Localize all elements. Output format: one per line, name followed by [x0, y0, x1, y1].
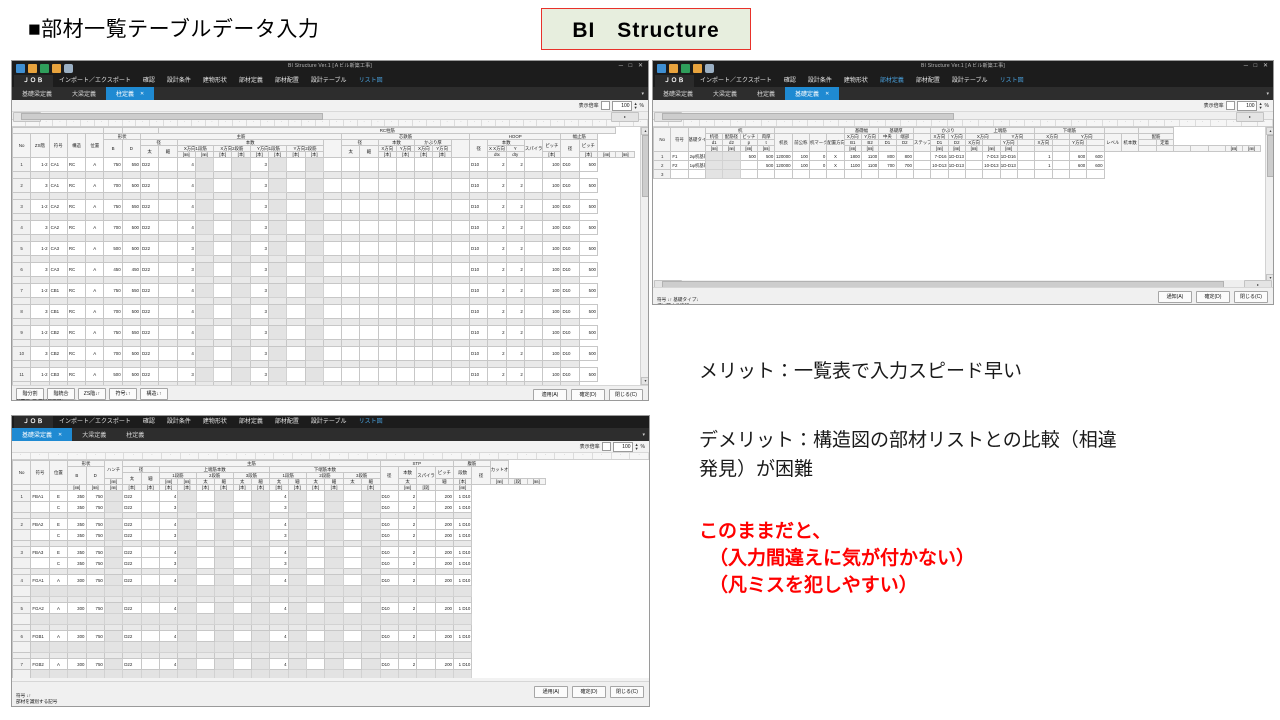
column-letter[interactable]: · — [124, 453, 143, 459]
column-letter[interactable]: · — [344, 120, 358, 126]
table-cell[interactable]: 1 D10 — [454, 530, 472, 541]
table-cell[interactable] — [31, 172, 49, 179]
column-letter[interactable]: · — [274, 453, 293, 459]
zoom-icon[interactable] — [601, 101, 610, 110]
table-cell[interactable] — [305, 361, 323, 368]
column-letter[interactable]: · — [555, 453, 574, 459]
table-cell[interactable] — [1017, 161, 1034, 170]
table-cell[interactable]: 4 — [160, 631, 178, 642]
table-cell[interactable] — [287, 319, 305, 326]
table-cell[interactable]: 7-D13 — [983, 152, 1000, 161]
table-cell[interactable] — [141, 586, 159, 597]
table-cell[interactable] — [287, 172, 305, 179]
table-cell[interactable] — [13, 193, 31, 200]
table-cell[interactable] — [13, 298, 31, 305]
table-cell[interactable] — [178, 659, 196, 670]
table-cell[interactable] — [342, 193, 360, 200]
table-cell[interactable] — [415, 340, 433, 347]
table-cell[interactable]: D10 — [561, 284, 579, 298]
monitor-icon[interactable] — [705, 64, 714, 73]
column-letter[interactable]: · — [413, 120, 427, 126]
table-cell[interactable] — [305, 235, 323, 242]
table-cell[interactable] — [305, 305, 323, 319]
table-cell[interactable] — [49, 642, 67, 653]
table-cell[interactable] — [196, 631, 214, 642]
table-cell[interactable]: 2 — [13, 179, 31, 193]
table-cell[interactable] — [360, 256, 378, 263]
table-cell[interactable] — [360, 298, 378, 305]
table-cell[interactable] — [86, 256, 104, 263]
table-cell[interactable] — [141, 670, 159, 678]
table-cell[interactable] — [215, 586, 233, 597]
table-cell[interactable]: 750 — [104, 200, 122, 214]
tab-基礎梁定義[interactable]: 基礎梁定義 — [653, 87, 703, 100]
table-cell[interactable] — [178, 575, 196, 586]
table-cell[interactable]: 4 — [160, 547, 178, 558]
table-cell[interactable] — [362, 519, 380, 530]
column-letter[interactable]: · — [330, 120, 344, 126]
table-cell[interactable] — [160, 642, 178, 653]
table-cell[interactable]: D22 — [140, 368, 158, 382]
table-row[interactable]: 6FGB1A300750D2244D1022001 D10 — [13, 631, 546, 642]
table-cell[interactable]: 1-2 — [31, 158, 49, 172]
table-cell[interactable] — [250, 172, 268, 179]
table-cell[interactable]: D10 — [380, 631, 398, 642]
table-cell[interactable] — [287, 368, 305, 382]
table-cell[interactable] — [307, 547, 325, 558]
beam-grid[interactable]: No符号位置形状ハンチ主筋STP腹筋カットオフ筋長さBD径上端筋本数下端筋本数径… — [12, 460, 649, 678]
table-cell[interactable] — [68, 670, 86, 678]
table-cell[interactable]: D10 — [561, 368, 579, 382]
column-letter[interactable]: · — [700, 120, 716, 126]
table-cell[interactable] — [378, 326, 396, 340]
button-符号↓↑[interactable]: 符号↓↑ — [109, 388, 137, 400]
table-cell[interactable] — [31, 558, 49, 569]
table-cell[interactable] — [195, 368, 213, 382]
table-cell[interactable] — [417, 575, 435, 586]
table-cell[interactable] — [433, 326, 451, 340]
table-cell[interactable] — [451, 305, 469, 319]
table-cell[interactable]: 1100 — [844, 161, 861, 170]
table-cell[interactable] — [415, 172, 433, 179]
table-cell[interactable] — [268, 221, 286, 235]
table-cell[interactable] — [104, 319, 122, 326]
table-cell[interactable] — [232, 193, 250, 200]
table-cell[interactable] — [250, 340, 268, 347]
table-cell[interactable]: F1 — [671, 152, 688, 161]
table-cell[interactable] — [250, 361, 268, 368]
table-cell[interactable] — [49, 614, 67, 625]
table-cell[interactable] — [360, 214, 378, 221]
table-cell[interactable] — [214, 235, 232, 242]
table-cell[interactable]: 3 — [270, 558, 288, 569]
scroll-up-icon[interactable]: ▴ — [1266, 127, 1273, 135]
table-cell[interactable] — [177, 319, 195, 326]
column-letter[interactable]: · — [49, 453, 68, 459]
table-cell[interactable] — [251, 586, 269, 597]
table-cell[interactable] — [232, 326, 250, 340]
table-cell[interactable]: 4 — [270, 603, 288, 614]
table-cell[interactable]: 500 — [579, 221, 597, 235]
table-cell[interactable] — [49, 670, 67, 678]
menu-item-リスト図[interactable]: リスト図 — [353, 75, 389, 87]
table-cell[interactable]: 700 — [104, 179, 122, 193]
table-cell[interactable] — [305, 242, 323, 256]
table-cell[interactable] — [49, 298, 67, 305]
table-cell[interactable] — [433, 263, 451, 277]
table-cell[interactable] — [323, 368, 341, 382]
table-cell[interactable] — [232, 368, 250, 382]
table-cell[interactable]: 2 — [506, 263, 524, 277]
table-cell[interactable] — [524, 284, 542, 298]
table-cell[interactable] — [159, 347, 177, 361]
column-letter[interactable]: · — [1025, 120, 1041, 126]
column-letter[interactable]: · — [1118, 120, 1134, 126]
table-cell[interactable] — [159, 242, 177, 256]
table-cell[interactable] — [417, 502, 435, 513]
table-cell[interactable] — [159, 319, 177, 326]
table-cell[interactable] — [343, 659, 361, 670]
table-cell[interactable]: X — [827, 161, 844, 170]
table-cell[interactable]: 0 — [809, 152, 826, 161]
table-cell[interactable] — [288, 547, 306, 558]
table-cell[interactable]: 3 — [160, 558, 178, 569]
table-cell[interactable] — [288, 530, 306, 541]
table-row-spacer[interactable] — [13, 193, 635, 200]
table-cell[interactable] — [86, 361, 104, 368]
table-cell[interactable] — [451, 361, 469, 368]
table-cell[interactable] — [159, 284, 177, 298]
table-cell[interactable] — [360, 277, 378, 284]
table-cell[interactable] — [251, 519, 269, 530]
table-cell[interactable] — [268, 319, 286, 326]
column-letter[interactable]: · — [441, 120, 455, 126]
table-cell[interactable] — [913, 152, 930, 161]
column-letter[interactable]: · — [499, 453, 518, 459]
table-cell[interactable]: 750 — [86, 519, 104, 530]
table-cell[interactable] — [378, 347, 396, 361]
table-cell[interactable] — [195, 158, 213, 172]
table-cell[interactable] — [141, 547, 159, 558]
table-cell[interactable]: 2 — [506, 242, 524, 256]
table-cell[interactable]: 3 — [250, 242, 268, 256]
table-cell[interactable]: D10 — [561, 347, 579, 361]
table-cell[interactable] — [268, 172, 286, 179]
table-cell[interactable] — [983, 170, 1000, 179]
table-cell[interactable] — [287, 256, 305, 263]
table-cell[interactable] — [141, 603, 159, 614]
table-cell[interactable] — [67, 256, 85, 263]
table-cell[interactable] — [195, 235, 213, 242]
table-cell[interactable] — [396, 319, 414, 326]
table-cell[interactable] — [305, 277, 323, 284]
table-cell[interactable] — [342, 298, 360, 305]
table-cell[interactable]: 3 — [13, 547, 31, 558]
save-icon[interactable] — [16, 64, 25, 73]
table-cell[interactable] — [360, 347, 378, 361]
table-cell[interactable]: 550 — [122, 158, 140, 172]
table-cell[interactable] — [415, 347, 433, 361]
table-cell[interactable]: RC — [67, 305, 85, 319]
table-cell[interactable]: 1 D10 — [454, 558, 472, 569]
table-cell[interactable] — [268, 158, 286, 172]
table-cell[interactable]: D22 — [140, 263, 158, 277]
table-cell[interactable] — [488, 361, 506, 368]
table-cell[interactable] — [104, 256, 122, 263]
table-cell[interactable]: 800 — [879, 152, 896, 161]
table-cell[interactable] — [215, 659, 233, 670]
table-cell[interactable]: 750 — [86, 502, 104, 513]
table-cell[interactable] — [178, 547, 196, 558]
column-letter[interactable]: · — [1180, 120, 1196, 126]
table-cell[interactable] — [470, 361, 488, 368]
table-cell[interactable] — [360, 242, 378, 256]
table-cell[interactable] — [323, 340, 341, 347]
table-cell[interactable] — [31, 256, 49, 263]
column-letter[interactable]: · — [178, 120, 192, 126]
table-cell[interactable]: 1 — [13, 158, 31, 172]
table-cell[interactable] — [270, 642, 288, 653]
table-cell[interactable] — [140, 214, 158, 221]
table-cell[interactable] — [215, 502, 233, 513]
table-cell[interactable]: D22 — [123, 558, 141, 569]
table-cell[interactable] — [177, 361, 195, 368]
table-cell[interactable] — [195, 305, 213, 319]
table-cell[interactable] — [965, 152, 982, 161]
table-cell[interactable]: 2 — [488, 158, 506, 172]
table-cell[interactable] — [323, 235, 341, 242]
table-cell[interactable] — [195, 172, 213, 179]
zoom-toolbar[interactable]: 表示倍率 100 ▲▼ % — [12, 100, 648, 112]
table-cell[interactable] — [122, 319, 140, 326]
table-cell[interactable] — [435, 642, 453, 653]
table-cell[interactable] — [561, 277, 579, 284]
table-cell[interactable] — [451, 277, 469, 284]
table-cell[interactable] — [792, 170, 809, 179]
table-cell[interactable]: C — [49, 530, 67, 541]
window-column-definition[interactable]: BI Structure Ver.1 [Ａビル新築工事] ─ □ ✕ ＪＯＢイン… — [11, 60, 649, 401]
table-cell[interactable] — [378, 158, 396, 172]
save-icon[interactable] — [657, 64, 666, 73]
table-cell[interactable] — [325, 491, 343, 502]
table-cell[interactable] — [195, 256, 213, 263]
table-cell[interactable]: 500 — [122, 368, 140, 382]
table-cell[interactable] — [451, 319, 469, 326]
column-letter[interactable]: · — [612, 453, 631, 459]
table-cell[interactable] — [287, 158, 305, 172]
table-cell[interactable] — [233, 659, 251, 670]
table-cell[interactable] — [196, 642, 214, 653]
menu-item-ＪＯＢ[interactable]: ＪＯＢ — [14, 75, 53, 87]
column-letter[interactable]: · — [164, 120, 178, 126]
table-cell[interactable]: 3 — [250, 347, 268, 361]
table-cell[interactable] — [415, 214, 433, 221]
table-cell[interactable]: D10 — [470, 200, 488, 214]
table-cell[interactable]: CA3 — [49, 263, 67, 277]
table-cell[interactable] — [415, 284, 433, 298]
table-cell[interactable] — [433, 298, 451, 305]
column-letter[interactable]: · — [901, 120, 917, 126]
button-確定(D)[interactable]: 確定(D) — [572, 686, 606, 698]
column-letter[interactable]: · — [372, 120, 386, 126]
table-cell[interactable] — [543, 193, 561, 200]
column-letter[interactable]: · — [518, 453, 537, 459]
table-cell[interactable] — [488, 235, 506, 242]
table-cell[interactable] — [104, 214, 122, 221]
table-cell[interactable] — [454, 586, 472, 597]
table-cell[interactable] — [160, 670, 178, 678]
table-cell[interactable]: 1 D10 — [454, 502, 472, 513]
table-cell[interactable] — [122, 193, 140, 200]
table-cell[interactable] — [380, 642, 398, 653]
table-cell[interactable] — [343, 586, 361, 597]
table-cell[interactable] — [268, 235, 286, 242]
table-cell[interactable] — [342, 361, 360, 368]
table-cell[interactable]: A — [86, 179, 104, 193]
table-cell[interactable]: 750 — [104, 158, 122, 172]
table-cell[interactable] — [307, 659, 325, 670]
table-cell[interactable]: 1D-D13 — [948, 152, 965, 161]
table-cell[interactable] — [268, 277, 286, 284]
table-cell[interactable]: 1-2 — [31, 200, 49, 214]
table-cell[interactable]: E — [49, 491, 67, 502]
table-cell[interactable] — [342, 235, 360, 242]
table-cell[interactable]: 2 — [506, 179, 524, 193]
table-cell[interactable] — [196, 670, 214, 678]
table-cell[interactable] — [396, 298, 414, 305]
table-cell[interactable]: D22 — [140, 200, 158, 214]
table-row-spacer[interactable] — [13, 277, 635, 284]
table-cell[interactable]: 4 — [160, 603, 178, 614]
table-cell[interactable]: A — [49, 603, 67, 614]
table-cell[interactable]: 6 — [13, 263, 31, 277]
table-cell[interactable] — [543, 277, 561, 284]
table-cell[interactable]: A — [86, 263, 104, 277]
column-letter[interactable]: · — [551, 120, 565, 126]
table-cell[interactable] — [506, 235, 524, 242]
table-cell[interactable] — [506, 277, 524, 284]
menu-item-部材配置[interactable]: 部材配置 — [269, 416, 305, 428]
menu-item-部材定義[interactable]: 部材定義 — [233, 75, 269, 87]
table-cell[interactable] — [343, 603, 361, 614]
table-cell[interactable] — [325, 603, 343, 614]
window-foundation-beam-definition[interactable]: ＪＯＢインポート／エクスポート確認設計条件建物形状部材定義部材配置設計テーブルリ… — [11, 415, 650, 707]
lock-icon[interactable] — [693, 64, 702, 73]
footer-buttons-right[interactable]: 適用(A)確定(D)閉じる(C) — [533, 389, 643, 401]
table-cell[interactable] — [396, 340, 414, 347]
table-cell[interactable] — [288, 502, 306, 513]
table-cell[interactable] — [360, 158, 378, 172]
table-cell[interactable] — [342, 305, 360, 319]
table-cell[interactable] — [268, 242, 286, 256]
table-cell[interactable] — [288, 491, 306, 502]
table-cell[interactable] — [268, 179, 286, 193]
table-cell[interactable]: 3 — [31, 221, 49, 235]
button-確定(D)[interactable]: 確定(D) — [571, 389, 605, 401]
table-cell[interactable] — [177, 214, 195, 221]
table-cell[interactable] — [287, 340, 305, 347]
table-cell[interactable] — [307, 491, 325, 502]
zoom-input[interactable]: 100 — [1237, 101, 1257, 111]
table-cell[interactable] — [342, 326, 360, 340]
tab-柱定義[interactable]: 柱定義 — [116, 428, 154, 441]
table-cell[interactable] — [451, 284, 469, 298]
table-cell[interactable] — [122, 277, 140, 284]
table-cell[interactable] — [323, 193, 341, 200]
table-cell[interactable]: 1 D10 — [454, 519, 472, 530]
table-cell[interactable] — [49, 172, 67, 179]
table-cell[interactable]: 4 — [160, 659, 178, 670]
table-cell[interactable]: CA2 — [49, 221, 67, 235]
table-cell[interactable] — [415, 326, 433, 340]
table-row-spacer[interactable] — [13, 256, 635, 263]
table-cell[interactable] — [232, 298, 250, 305]
table-cell[interactable] — [470, 256, 488, 263]
table-cell[interactable] — [196, 502, 214, 513]
scroll-thumb[interactable] — [662, 113, 954, 120]
table-cell[interactable] — [415, 179, 433, 193]
table-cell[interactable] — [13, 277, 31, 284]
column-letter[interactable]: · — [1134, 120, 1150, 126]
table-row-spacer[interactable] — [13, 298, 635, 305]
table-cell[interactable] — [451, 179, 469, 193]
table-cell[interactable] — [68, 586, 86, 597]
table-cell[interactable] — [232, 179, 250, 193]
table-cell[interactable]: RC — [67, 368, 85, 382]
table-cell[interactable] — [13, 319, 31, 326]
table-cell[interactable] — [140, 235, 158, 242]
table-cell[interactable]: 3 — [250, 263, 268, 277]
table-cell[interactable] — [214, 263, 232, 277]
table-cell[interactable] — [362, 491, 380, 502]
table-cell[interactable] — [159, 221, 177, 235]
table-cell[interactable] — [396, 305, 414, 319]
table-cell[interactable] — [288, 575, 306, 586]
table-cell[interactable] — [232, 361, 250, 368]
table-cell[interactable]: 10-D13 — [931, 161, 948, 170]
table-cell[interactable]: 2 — [398, 547, 416, 558]
table-cell[interactable] — [325, 631, 343, 642]
table-cell[interactable]: 700 — [104, 221, 122, 235]
table-cell[interactable] — [396, 326, 414, 340]
table-cell[interactable] — [417, 586, 435, 597]
table-cell[interactable] — [177, 172, 195, 179]
table-cell[interactable]: FBA2 — [31, 519, 49, 530]
column-letter[interactable]: · — [247, 120, 261, 126]
table-row[interactable]: 83CB1RCA700500D2243D1022100D10500 — [13, 305, 635, 319]
table-cell[interactable]: 100 — [792, 152, 809, 161]
table-cell[interactable]: 1 — [1035, 161, 1052, 170]
table-cell[interactable] — [343, 491, 361, 502]
table-cell[interactable] — [305, 172, 323, 179]
zoom-icon[interactable] — [1226, 101, 1235, 110]
table-row-spacer[interactable] — [13, 340, 635, 347]
table-cell[interactable] — [396, 235, 414, 242]
table-cell[interactable] — [214, 172, 232, 179]
table-cell[interactable] — [378, 305, 396, 319]
table-cell[interactable] — [740, 170, 757, 179]
menu-item-部材定義[interactable]: 部材定義 — [233, 416, 269, 428]
table-cell[interactable] — [214, 347, 232, 361]
table-cell[interactable]: 550 — [122, 284, 140, 298]
table-cell[interactable] — [305, 284, 323, 298]
table-row[interactable]: 71-2CB1RCA750550D2243D1022100D10500 — [13, 284, 635, 298]
table-cell[interactable] — [360, 319, 378, 326]
table-cell[interactable] — [214, 368, 232, 382]
table-cell[interactable] — [268, 326, 286, 340]
table-cell[interactable] — [524, 214, 542, 221]
table-cell[interactable]: 100 — [543, 242, 561, 256]
